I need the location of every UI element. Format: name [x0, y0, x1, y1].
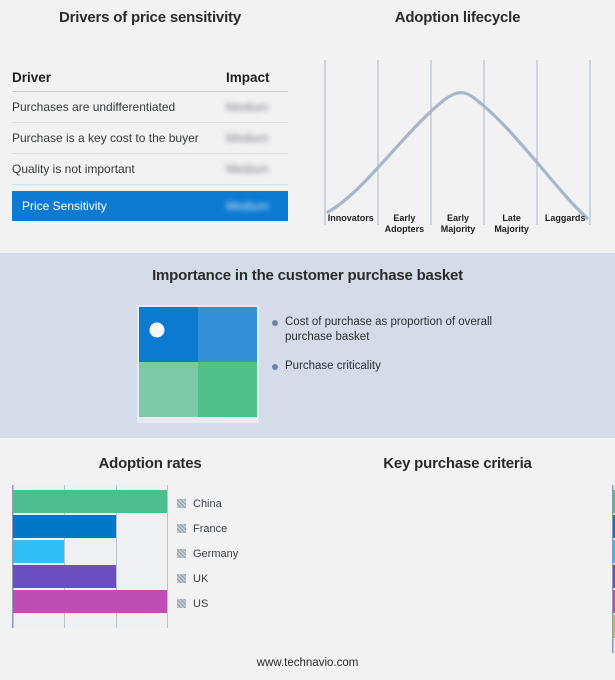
lifecycle-panel: Adoption lifecycle Innovators: [300, 0, 615, 250]
marker-dot-icon: [149, 323, 164, 338]
table-row: Purchase is a key cost to the buyer Medi…: [12, 123, 288, 154]
legend-item: France: [177, 516, 238, 541]
basket-legend: Cost of purchase as proportion of overal…: [272, 315, 572, 388]
legend-label: UK: [193, 573, 208, 585]
impact-value: Medium: [226, 131, 288, 145]
bullet-icon: [272, 320, 278, 326]
lifecycle-stage-labels: Innovators Early Adopters Early Majority…: [324, 213, 592, 235]
quadrant-bottom-right: [198, 362, 257, 417]
legend-item: Germany: [177, 541, 238, 566]
bar-china: [13, 490, 167, 513]
lifecycle-chart: Innovators Early Adopters Early Majority…: [324, 60, 592, 235]
table-row: Purchases are undifferentiated Medium: [12, 92, 288, 123]
plot-area: [12, 485, 167, 628]
adoption-rates-panel: Adoption rates ChinaFranceGermanyUKUS: [0, 440, 300, 660]
key-purchase-criteria-panel: Key purchase criteria InnovationPriceQua…: [300, 440, 615, 660]
key-purchase-criteria-title: Key purchase criteria: [300, 455, 615, 472]
bar-series: [13, 490, 167, 623]
table-row: Quality is not important Medium: [12, 154, 288, 185]
legend-item: US: [177, 591, 238, 616]
bar-france: [13, 515, 116, 538]
legend-label: Germany: [193, 548, 238, 560]
stage-label-laggards: Laggards: [538, 213, 592, 235]
legend-item: China: [177, 491, 238, 516]
driver-label: Purchase is a key cost to the buyer: [12, 131, 226, 145]
stage-label-early-majority: Early Majority: [431, 213, 485, 235]
bell-curve-svg: [324, 60, 592, 235]
chart-legend: ChinaFranceGermanyUKUS: [177, 485, 238, 628]
column-header-driver: Driver: [12, 70, 226, 85]
stage-label-late-majority: Late Majority: [485, 213, 539, 235]
bar-uk: [13, 565, 116, 588]
legend-label: Purchase criticality: [285, 359, 381, 374]
impact-value: Medium: [226, 100, 288, 114]
legend-label: US: [193, 598, 208, 610]
legend-label: China: [193, 498, 222, 510]
lifecycle-title: Adoption lifecycle: [300, 9, 615, 26]
stage-label-early-adopters: Early Adopters: [378, 213, 432, 235]
adoption-rates-chart: ChinaFranceGermanyUKUS: [12, 485, 238, 628]
impact-value: Medium: [226, 199, 288, 213]
infographic-page: Drivers of price sensitivity Driver Impa…: [0, 0, 615, 680]
purchase-basket-panel: Importance in the customer purchase bask…: [0, 253, 615, 438]
legend-label: France: [193, 523, 227, 535]
legend-swatch-icon: [177, 499, 186, 508]
quadrant-top-left: [139, 307, 198, 362]
driver-label: Quality is not important: [12, 162, 226, 176]
drivers-table: Driver Impact Purchases are undifferenti…: [12, 64, 288, 221]
quadrant-matrix-frame: [137, 305, 259, 423]
quadrant-matrix: [139, 307, 257, 417]
driver-label: Purchases are undifferentiated: [12, 100, 226, 114]
quadrant-top-right: [198, 307, 257, 362]
bar-germany: [13, 540, 64, 563]
quadrant-bottom-left: [139, 362, 198, 417]
impact-value: Medium: [226, 162, 288, 176]
legend-item: Purchase criticality: [272, 359, 572, 374]
legend-swatch-icon: [177, 549, 186, 558]
gridline: [167, 485, 168, 628]
legend-swatch-icon: [177, 574, 186, 583]
legend-item: Cost of purchase as proportion of overal…: [272, 315, 572, 345]
adoption-rates-title: Adoption rates: [0, 455, 300, 472]
legend-label: Cost of purchase as proportion of overal…: [285, 315, 495, 345]
drivers-title: Drivers of price sensitivity: [0, 9, 300, 26]
stage-label-innovators: Innovators: [324, 213, 378, 235]
bullet-icon: [272, 364, 278, 370]
column-header-impact: Impact: [226, 70, 288, 85]
basket-title: Importance in the customer purchase bask…: [0, 267, 615, 284]
table-row-highlighted: Price Sensitivity Medium: [12, 191, 288, 221]
bar-us: [13, 590, 167, 613]
legend-swatch-icon: [177, 524, 186, 533]
table-header-row: Driver Impact: [12, 64, 288, 92]
drivers-panel: Drivers of price sensitivity Driver Impa…: [0, 0, 300, 250]
legend-swatch-icon: [177, 599, 186, 608]
footer-url: www.technavio.com: [0, 657, 615, 669]
driver-label: Price Sensitivity: [22, 199, 226, 213]
legend-item: UK: [177, 566, 238, 591]
